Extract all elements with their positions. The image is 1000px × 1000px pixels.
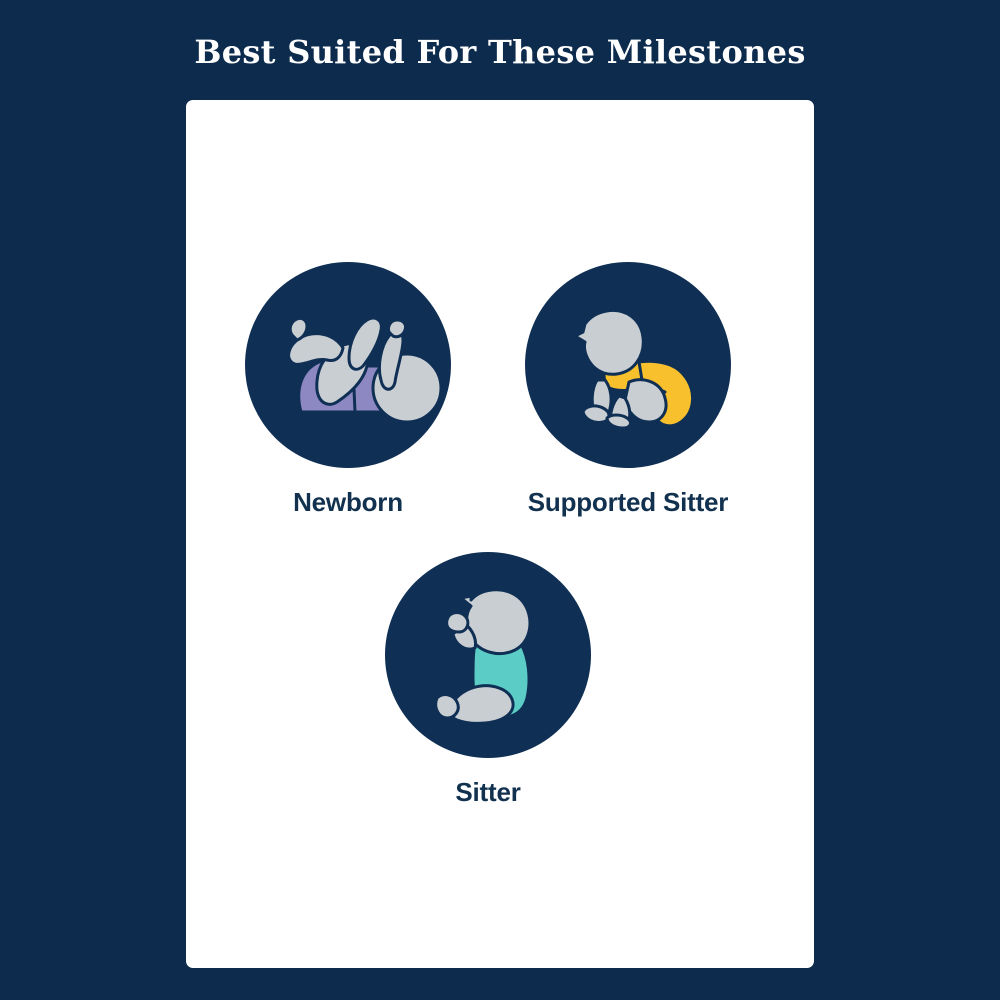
milestone-item-sitter[interactable]: Sitter (368, 552, 608, 805)
milestones-card: Newborn (186, 100, 814, 968)
milestones-graphic: Best Suited For These Milestones (0, 0, 1000, 1000)
page-title: Best Suited For These Milestones (0, 33, 1000, 71)
milestone-label: Supported Sitter (508, 489, 748, 515)
baby-sitting-icon (385, 552, 591, 758)
milestone-label: Sitter (368, 779, 608, 805)
milestone-item-newborn[interactable]: Newborn (228, 262, 468, 515)
milestone-item-supported-sitter[interactable]: Supported Sitter (508, 262, 748, 515)
baby-crawling-icon (525, 262, 731, 468)
milestones-list: Newborn (186, 100, 814, 968)
baby-lying-on-back-icon (245, 262, 451, 468)
milestone-label: Newborn (228, 489, 468, 515)
